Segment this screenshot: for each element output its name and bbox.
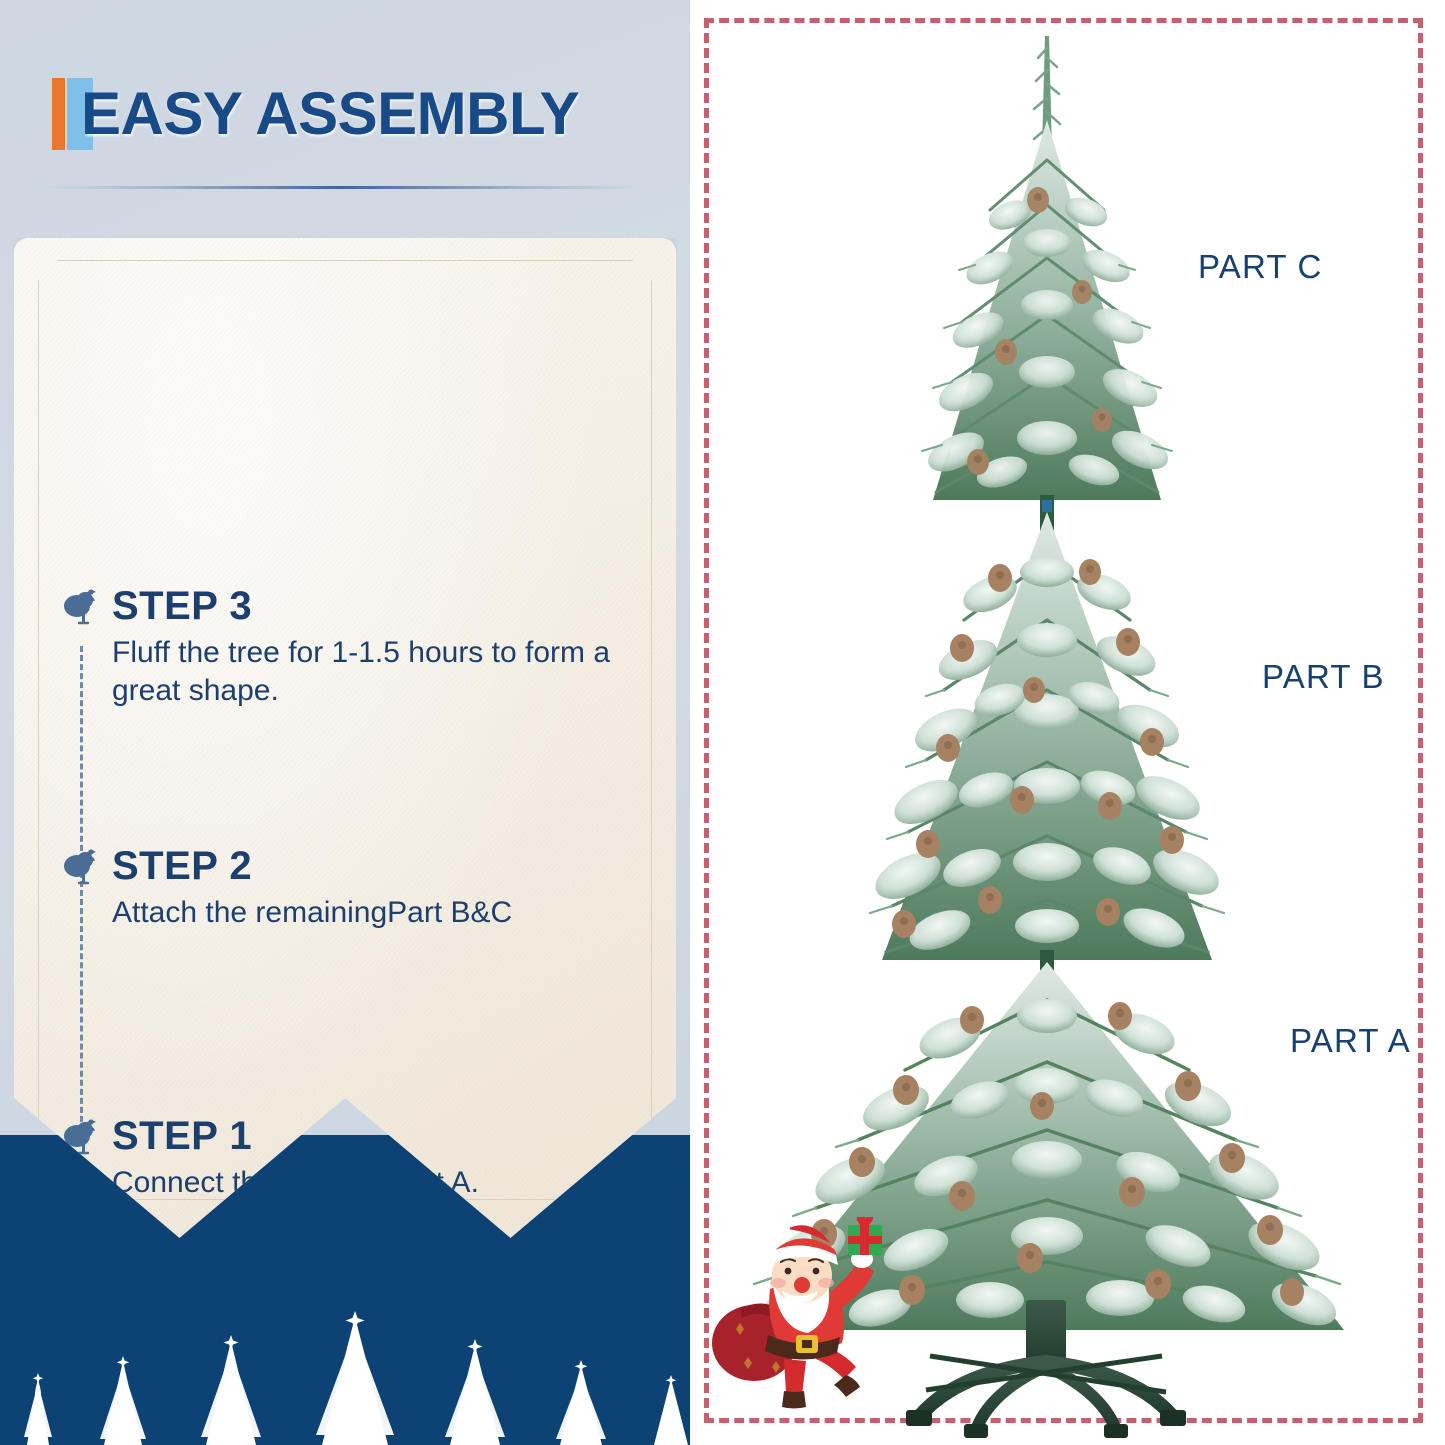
page-title: EASY ASSEMBLY [81, 78, 579, 150]
step-3-body: Fluff the tree for 1-1.5 hours to form a… [112, 634, 640, 711]
panel-header: EASY ASSEMBLY [0, 0, 690, 215]
title-row: EASY ASSEMBLY [52, 78, 579, 150]
tree-part-c [922, 36, 1174, 500]
white-tree-silhouettes [0, 1265, 690, 1445]
step-item-2: STEP 2 Attach the remainingPart B&C [60, 846, 640, 932]
right-product-panel: PART C PART B PART A [690, 0, 1445, 1445]
accent-bar-orange [52, 78, 65, 150]
part-b-label: PART B [1262, 658, 1385, 696]
left-instructions-panel: EASY ASSEMBLY STEP 3 [0, 0, 690, 1445]
santa-claus-figure [710, 1217, 900, 1417]
step-2-title: STEP 2 [112, 846, 252, 886]
step-3-title: STEP 3 [112, 586, 252, 626]
step-2-head: STEP 2 [60, 846, 640, 886]
navy-footer-band [0, 1135, 690, 1445]
card-inner-border [38, 260, 652, 1200]
step-3-head: STEP 3 [60, 586, 640, 626]
part-a-label: PART A [1290, 1022, 1411, 1060]
tree-part-b [868, 495, 1226, 960]
tree-bullet-icon [60, 586, 106, 626]
steps-card: STEP 3 Fluff the tree for 1-1.5 hours to… [14, 238, 676, 1238]
step-item-3: STEP 3 Fluff the tree for 1-1.5 hours to… [60, 586, 640, 711]
step-1-title: STEP 1 [112, 1116, 252, 1156]
part-c-label: PART C [1198, 248, 1323, 286]
tree-bullet-icon [60, 846, 106, 886]
header-divider [42, 186, 642, 189]
step-2-body: Attach the remainingPart B&C [112, 894, 640, 932]
